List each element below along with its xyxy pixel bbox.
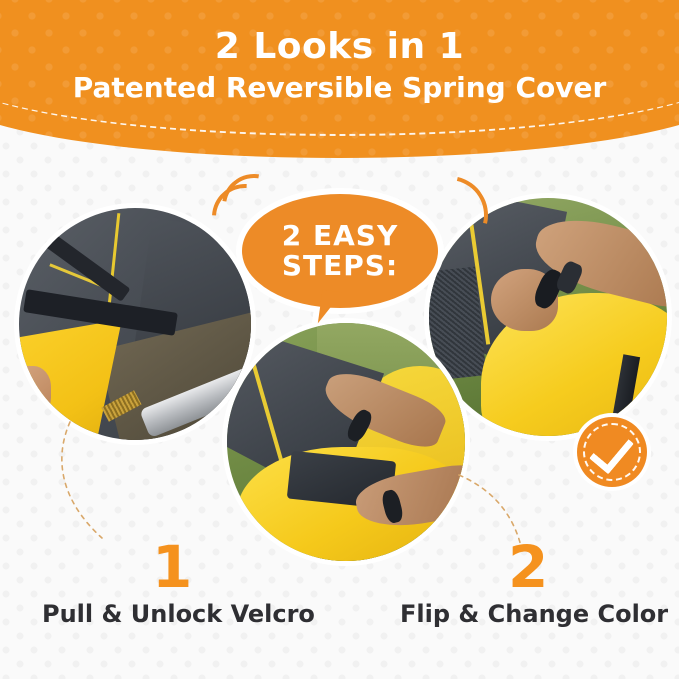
- photo-backdrop: [19, 208, 251, 440]
- callout-line-1: 2 EASY: [282, 221, 398, 251]
- bubble-tail: [318, 290, 358, 329]
- step-label-2: Flip & Change Color: [400, 600, 668, 628]
- step-number-1: 1: [152, 538, 192, 596]
- step-label-1: Pull & Unlock Velcro: [42, 600, 315, 628]
- photo-backdrop: [227, 323, 465, 561]
- product-infographic: 2 Looks in 1 Patented Reversible Spring …: [0, 0, 679, 679]
- callout-line-2: STEPS:: [282, 251, 398, 281]
- check-badge: [577, 417, 647, 487]
- easy-steps-callout: 2 EASY STEPS:: [236, 188, 444, 338]
- hand: [14, 366, 51, 422]
- page-title: 2 Looks in 1: [0, 0, 679, 67]
- header-text: 2 Looks in 1 Patented Reversible Spring …: [0, 0, 679, 105]
- page-subtitle: Patented Reversible Spring Cover: [0, 67, 679, 105]
- flip-cover-photo: [222, 318, 470, 566]
- step-number-2: 2: [508, 538, 548, 596]
